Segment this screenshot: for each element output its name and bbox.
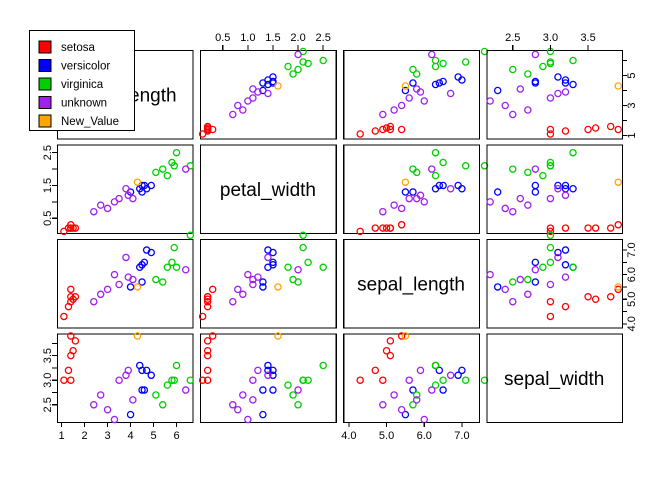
data-point <box>173 150 179 156</box>
y-tick-label: 3.0 <box>42 373 54 388</box>
y-tick-label: 5 <box>626 72 638 78</box>
y-tick-label: 4.0 <box>626 316 638 331</box>
data-point <box>547 313 553 319</box>
data-point <box>593 125 599 131</box>
data-point <box>380 377 386 383</box>
data-point <box>285 63 291 69</box>
data-point <box>111 272 117 278</box>
data-point <box>410 66 416 72</box>
data-point <box>502 102 508 108</box>
data-point <box>540 63 546 69</box>
diagonal-variable-label: sepal_length <box>357 274 465 295</box>
data-point <box>387 338 393 344</box>
data-point <box>547 195 553 201</box>
data-point <box>593 225 599 231</box>
data-point <box>615 179 621 185</box>
data-point <box>380 209 386 215</box>
data-point <box>487 272 493 278</box>
data-point <box>250 95 256 101</box>
x-axis-petal_width: 0.51.01.52.02.5 <box>215 32 331 50</box>
data-point <box>61 313 67 319</box>
data-point <box>265 264 271 270</box>
data-point <box>495 87 501 93</box>
data-point <box>171 245 177 251</box>
data-point <box>391 392 397 398</box>
y-tick-label: 7.0 <box>626 242 638 257</box>
legend-label: setosa <box>61 42 95 54</box>
data-point <box>387 225 393 231</box>
data-point <box>72 338 78 344</box>
data-point <box>160 402 166 408</box>
y-tick-label: 2.5 <box>42 145 54 160</box>
data-point <box>448 186 454 192</box>
data-point <box>608 123 614 129</box>
panel-frame <box>58 240 194 329</box>
data-point <box>532 259 538 265</box>
legend-label: New_Value <box>61 116 119 128</box>
data-point <box>205 338 211 344</box>
data-point <box>255 367 261 373</box>
data-point <box>615 126 621 132</box>
y-axis-petal_length: 135 <box>622 61 638 139</box>
data-point <box>532 166 538 172</box>
data-point <box>432 362 438 368</box>
data-point <box>230 111 236 117</box>
data-point <box>357 131 363 137</box>
data-point <box>91 209 97 215</box>
y-tick-label: 1.5 <box>42 178 54 193</box>
data-point <box>230 402 236 408</box>
data-point <box>320 264 326 270</box>
data-point <box>265 90 271 96</box>
data-point <box>148 182 154 188</box>
data-point <box>525 276 531 282</box>
scatter-panel-petal_length-vs-petal_width <box>200 48 337 139</box>
data-point <box>547 131 553 137</box>
data-point <box>320 362 326 368</box>
scatter-panel-sepal_length-vs-petal_length <box>58 232 194 328</box>
scatter-panel-sepal_length-vs-petal_width <box>200 232 337 328</box>
x-tick-label: 2 <box>82 430 88 442</box>
data-point <box>380 402 386 408</box>
data-point <box>402 189 408 195</box>
data-point <box>540 173 546 179</box>
data-point <box>429 51 435 57</box>
data-point <box>495 189 501 195</box>
data-point <box>153 169 159 175</box>
data-point <box>585 126 591 132</box>
data-point <box>275 83 281 89</box>
data-point <box>525 169 531 175</box>
data-point <box>410 80 416 86</box>
data-point <box>61 377 67 383</box>
data-point <box>570 264 576 270</box>
data-point <box>532 267 538 273</box>
data-point <box>295 51 301 57</box>
data-point <box>555 74 561 80</box>
x-tick-label: 3 <box>105 430 111 442</box>
data-point <box>153 392 159 398</box>
data-point <box>517 195 523 201</box>
data-point <box>240 291 246 297</box>
y-tick-label: 3.5 <box>42 348 54 363</box>
data-point <box>235 407 241 413</box>
data-point <box>555 90 561 96</box>
data-point <box>295 279 301 285</box>
legend-swatch <box>39 60 51 72</box>
data-point <box>463 163 469 169</box>
data-point <box>463 377 469 383</box>
data-point <box>540 264 546 270</box>
data-point <box>148 372 154 378</box>
data-point <box>372 225 378 231</box>
data-point <box>406 195 412 201</box>
panel-frame <box>58 145 194 234</box>
data-point <box>116 195 122 201</box>
data-point <box>134 179 140 185</box>
x-tick-label: 6 <box>173 430 179 442</box>
data-point <box>562 304 568 310</box>
data-point <box>562 225 568 231</box>
data-point <box>127 284 133 290</box>
data-point <box>510 299 516 305</box>
y-axis-sepal_length: 4.05.06.07.0 <box>622 242 638 331</box>
data-point <box>295 267 301 273</box>
scatter-panel-sepal_length-vs-sepal_width <box>487 232 623 328</box>
data-point <box>510 66 516 72</box>
data-point <box>525 71 531 77</box>
data-point <box>525 202 531 208</box>
data-point <box>91 299 97 305</box>
data-point <box>245 272 251 278</box>
scatter-panel-petal_width-vs-sepal_length <box>344 145 488 234</box>
data-point <box>399 102 405 108</box>
data-point <box>391 202 397 208</box>
data-point <box>383 348 389 354</box>
data-point <box>608 294 614 300</box>
scatter-panel-sepal_width-vs-sepal_length <box>344 333 488 423</box>
y-tick-label: 0.5 <box>42 211 54 226</box>
y-axis-sepal_width: 2.53.03.5 <box>42 343 57 412</box>
y-tick-label: 6.0 <box>626 267 638 282</box>
data-point <box>372 367 378 373</box>
data-point <box>532 51 538 57</box>
y-axis-petal_width: 0.51.52.5 <box>42 145 57 226</box>
data-point <box>440 78 446 84</box>
y-tick-label: 3 <box>626 102 638 108</box>
y-tick-label: 5.0 <box>626 292 638 307</box>
data-point <box>517 276 523 282</box>
data-point <box>510 279 516 285</box>
x-tick-label: 1.5 <box>265 32 280 44</box>
data-point <box>570 186 576 192</box>
data-point <box>210 286 216 292</box>
diagonal-variable-label: sepal_width <box>504 369 604 390</box>
data-point <box>187 377 193 383</box>
data-point <box>205 367 211 373</box>
x-tick-label: 2.5 <box>505 32 520 44</box>
data-point <box>417 367 423 373</box>
panel-frame <box>344 51 480 140</box>
x-tick-label: 2.0 <box>290 32 305 44</box>
data-point <box>372 128 378 134</box>
data-point <box>432 150 438 156</box>
scatter-panel-sepal_width-vs-petal_width <box>200 333 337 423</box>
data-point <box>432 173 438 179</box>
data-point <box>91 402 97 408</box>
data-point <box>160 166 166 172</box>
data-point <box>510 111 516 117</box>
data-point <box>295 402 301 408</box>
data-point <box>104 286 110 292</box>
data-point <box>562 247 568 253</box>
x-tick-label: 1.0 <box>240 32 255 44</box>
data-point <box>547 259 553 265</box>
data-point <box>98 202 104 208</box>
x-tick-label: 4.0 <box>341 430 356 442</box>
data-point <box>305 259 311 265</box>
data-point <box>270 387 276 393</box>
data-point <box>440 60 446 66</box>
x-tick-label: 3.0 <box>543 32 558 44</box>
data-point <box>502 205 508 211</box>
legend-label: virginica <box>61 79 104 91</box>
scatter-panel-petal_width-vs-petal_length <box>58 145 194 234</box>
data-point <box>240 392 246 398</box>
scatter-panel-petal_length-vs-sepal_width <box>487 48 623 139</box>
x-tick-label: 6.0 <box>417 430 432 442</box>
data-point <box>440 377 446 383</box>
data-point <box>532 279 538 285</box>
x-tick-label: 1 <box>59 430 65 442</box>
data-point <box>399 222 405 228</box>
data-point <box>111 416 117 422</box>
data-point <box>448 90 454 96</box>
data-point <box>265 254 271 260</box>
data-point <box>440 182 446 188</box>
data-point <box>402 83 408 89</box>
data-point <box>68 377 74 383</box>
data-point <box>260 412 266 418</box>
pairs-matrix-canvas: petal_lengthpetal_widthsepal_lengthsepal… <box>0 0 672 480</box>
data-point <box>562 274 568 280</box>
diagonal-panel-sepal_length: sepal_length <box>344 240 480 329</box>
legend: setosaversicolorvirginicaunknownNew_Valu… <box>30 31 135 131</box>
data-point <box>285 382 291 388</box>
data-point <box>510 209 516 215</box>
data-point <box>429 387 435 393</box>
diagonal-panel-sepal_width: sepal_width <box>487 334 623 423</box>
data-point <box>421 416 427 422</box>
data-point <box>570 57 576 63</box>
data-point <box>532 182 538 188</box>
data-point <box>463 59 469 65</box>
data-point <box>123 186 129 192</box>
data-point <box>153 276 159 282</box>
data-point <box>104 205 110 211</box>
scatter-panel-petal_width-vs-sepal_width <box>487 145 623 234</box>
data-point <box>295 66 301 72</box>
data-point <box>380 111 386 117</box>
x-axis-petal_length: 123456 <box>59 422 180 442</box>
data-point <box>295 387 301 393</box>
data-point <box>525 107 531 113</box>
legend-label: unknown <box>61 98 107 110</box>
data-point <box>562 192 568 198</box>
data-point <box>421 199 427 205</box>
data-point <box>455 372 461 378</box>
data-point <box>260 387 266 393</box>
panel-frame <box>201 51 337 140</box>
data-point <box>562 128 568 134</box>
data-point <box>275 284 281 290</box>
data-point <box>510 166 516 172</box>
data-point <box>615 222 621 228</box>
x-tick-label: 0.5 <box>215 32 230 44</box>
data-point <box>127 412 133 418</box>
data-point <box>570 150 576 156</box>
legend-swatch <box>39 78 51 90</box>
data-point <box>547 95 553 101</box>
data-point <box>432 81 438 87</box>
data-point <box>183 166 189 172</box>
scatter-panel-petal_length-vs-sepal_length <box>344 48 488 139</box>
scatter-panel-sepal_width-vs-petal_length <box>58 333 194 423</box>
data-point <box>290 392 296 398</box>
data-point <box>410 189 416 195</box>
data-point <box>547 245 553 251</box>
legend-swatch <box>39 115 51 127</box>
data-point <box>525 291 531 297</box>
data-point <box>68 286 74 292</box>
x-axis-sepal_width: 2.53.03.5 <box>505 32 596 50</box>
data-point <box>399 205 405 211</box>
data-point <box>357 377 363 383</box>
data-point <box>169 259 175 265</box>
data-point <box>130 397 136 403</box>
data-point <box>406 95 412 101</box>
data-point <box>65 367 71 373</box>
x-tick-label: 3.5 <box>580 32 595 44</box>
data-point <box>173 362 179 368</box>
data-point <box>183 387 189 393</box>
x-tick-label: 2.5 <box>316 32 331 44</box>
data-point <box>130 195 136 201</box>
data-point <box>98 392 104 398</box>
data-point <box>134 284 140 290</box>
data-point <box>502 286 508 292</box>
legend-swatch <box>39 97 51 109</box>
data-point <box>517 86 523 92</box>
x-tick-label: 7.0 <box>454 430 469 442</box>
data-point <box>230 299 236 305</box>
y-tick-label: 1 <box>626 132 638 138</box>
data-point <box>608 225 614 231</box>
data-point <box>235 102 241 108</box>
data-point <box>250 397 256 403</box>
data-point <box>585 294 591 300</box>
x-tick-label: 4 <box>127 430 133 442</box>
diagonal-panel-petal_width: petal_width <box>201 145 337 234</box>
diagonal-variable-label: petal_width <box>220 180 316 201</box>
data-point <box>487 199 493 205</box>
data-point <box>547 299 553 305</box>
data-point <box>421 98 427 104</box>
x-axis-sepal_length: 4.05.06.07.0 <box>341 422 469 442</box>
data-point <box>98 291 104 297</box>
y-tick-label: 2.5 <box>42 397 54 412</box>
data-point <box>300 245 306 251</box>
data-point <box>164 173 170 179</box>
data-point <box>104 407 110 413</box>
data-point <box>593 296 599 302</box>
data-point <box>116 281 122 287</box>
x-tick-label: 5.0 <box>379 430 394 442</box>
data-point <box>123 254 129 260</box>
data-point <box>615 83 621 89</box>
data-point <box>380 126 386 132</box>
data-point <box>160 279 166 285</box>
data-point <box>183 267 189 273</box>
data-point <box>270 249 276 255</box>
data-point <box>495 284 501 290</box>
data-point <box>116 377 122 383</box>
data-point <box>570 81 576 87</box>
data-point <box>585 225 591 231</box>
data-point <box>448 372 454 378</box>
data-point <box>432 57 438 63</box>
data-point <box>250 86 256 92</box>
data-point <box>432 63 438 69</box>
data-point <box>532 189 538 195</box>
legend-swatch <box>39 41 51 53</box>
data-point <box>562 262 568 268</box>
legend-label: versicolor <box>61 61 110 73</box>
data-point <box>406 377 412 383</box>
data-point <box>487 98 493 104</box>
data-point <box>320 57 326 63</box>
data-point <box>429 166 435 172</box>
data-point <box>391 107 397 113</box>
scatter-plot-matrix: petal_lengthpetal_widthsepal_lengthsepal… <box>0 0 672 480</box>
data-point <box>562 89 568 95</box>
data-point <box>235 286 241 292</box>
data-point <box>436 80 442 86</box>
data-point <box>440 387 446 393</box>
data-point <box>285 264 291 270</box>
x-tick-label: 5 <box>150 430 156 442</box>
data-point <box>383 125 389 131</box>
data-point <box>440 159 446 165</box>
data-point <box>245 416 251 422</box>
data-point <box>402 179 408 185</box>
data-point <box>399 407 405 413</box>
data-point <box>547 281 553 287</box>
data-point <box>250 377 256 383</box>
data-point <box>399 126 405 132</box>
